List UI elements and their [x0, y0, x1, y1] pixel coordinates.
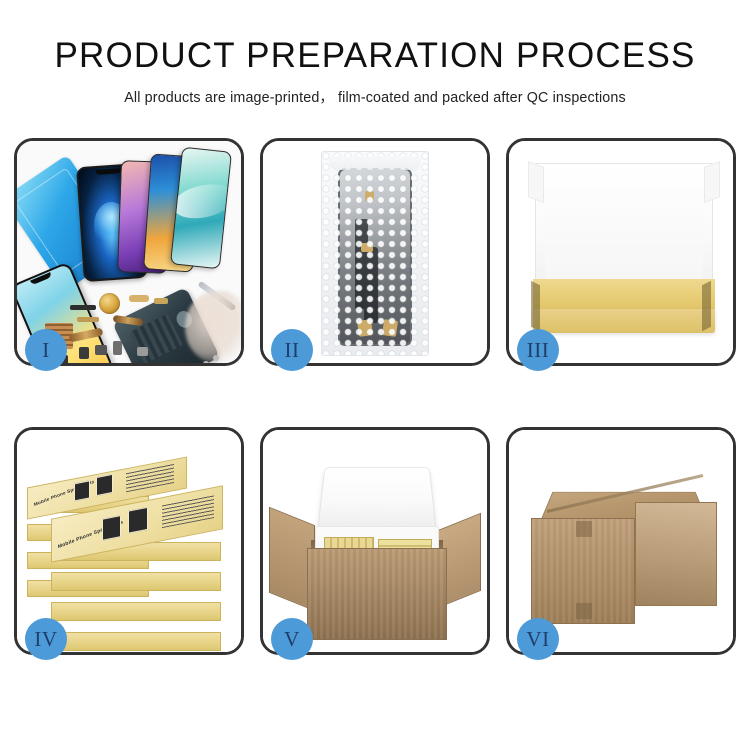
page-root: PRODUCT PREPARATION PROCESS All products… [0, 0, 750, 750]
carton-body [307, 548, 447, 640]
step-badge-1: I [25, 329, 67, 371]
spare-part [95, 345, 107, 355]
step-badge-4: IV [25, 618, 67, 660]
page-header: PRODUCT PREPARATION PROCESS All products… [0, 0, 750, 107]
spare-part [79, 347, 89, 359]
tape-patch [576, 521, 592, 537]
process-step-1: I [14, 138, 244, 366]
process-grid: I [14, 138, 736, 655]
carton-front-face [531, 518, 635, 624]
process-step-4: Mobile Phone Spare Parts Mobile Phone Sp… [14, 427, 244, 655]
bubble-wrap-bag [321, 151, 429, 356]
carton-side-face [635, 502, 717, 606]
step-badge-3: III [517, 329, 559, 371]
foam-lid [317, 467, 437, 531]
page-title: PRODUCT PREPARATION PROCESS [0, 38, 750, 75]
speaker-coil-icon [99, 293, 120, 314]
process-step-5: V [260, 427, 490, 655]
box-label-window [96, 474, 113, 496]
hand-blur [185, 291, 241, 363]
page-subtitle: All products are image-printed， film-coa… [0, 86, 750, 107]
process-step-6: VI [506, 427, 736, 655]
spare-part [70, 305, 96, 310]
box-label-window [128, 507, 148, 534]
box-label-window [74, 480, 90, 501]
step-badge-2: II [271, 329, 313, 371]
step-badge-5: V [271, 618, 313, 660]
screw-icon [213, 355, 219, 361]
box-tray-front [533, 309, 715, 333]
spare-part [113, 341, 122, 355]
stacked-box [51, 602, 221, 621]
foam-sheet [545, 185, 703, 281]
screw-icon [203, 361, 209, 363]
spare-part [154, 298, 168, 304]
spare-part [129, 295, 149, 302]
box-label-text-lines [126, 463, 174, 492]
stacked-box [51, 572, 221, 591]
step-badge-6: VI [517, 618, 559, 660]
box-corner [531, 281, 540, 331]
bag-fold [329, 156, 421, 170]
tape-patch [576, 603, 592, 619]
bubble-texture [322, 152, 428, 355]
box-label-window [102, 515, 121, 541]
spare-part [77, 317, 99, 322]
process-step-2: II [260, 138, 490, 366]
stacked-box [51, 632, 221, 651]
box-label-text-lines [162, 495, 214, 528]
spare-part [137, 347, 148, 356]
box-corner [702, 281, 711, 331]
process-step-3: III [506, 138, 736, 366]
notch [30, 272, 52, 285]
